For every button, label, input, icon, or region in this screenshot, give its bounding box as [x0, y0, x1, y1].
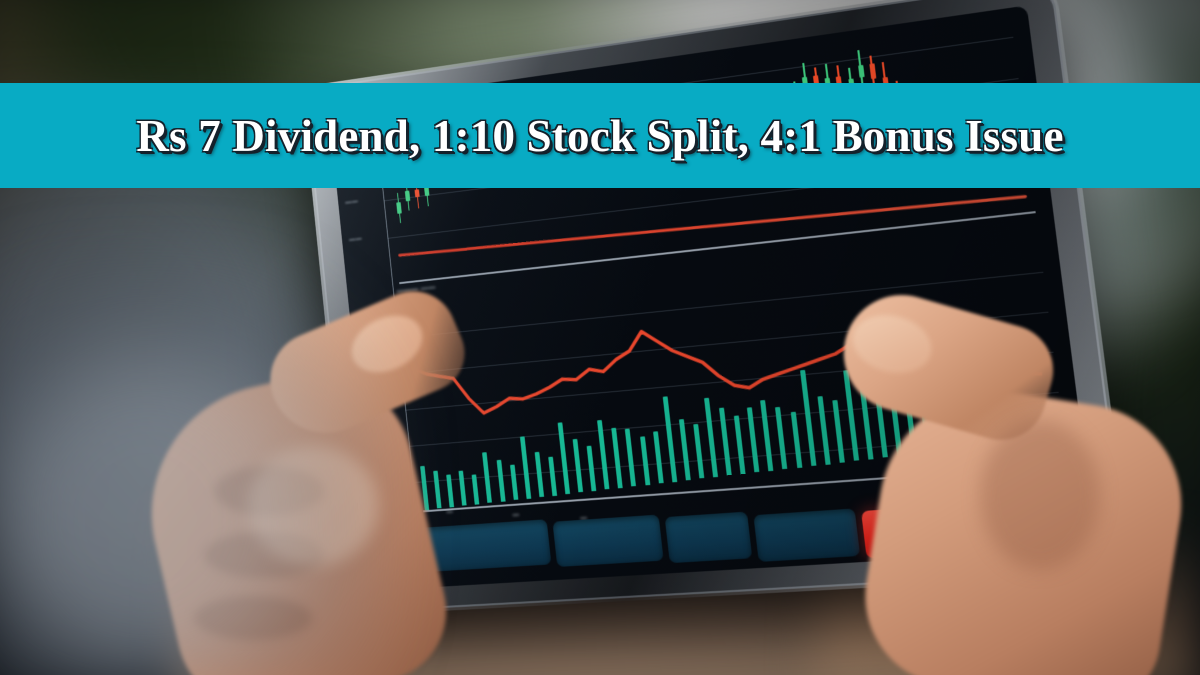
price-axis-label: ——: [345, 198, 358, 206]
candle-body: [858, 65, 865, 77]
candle-body: [869, 63, 876, 79]
headline-text: Rs 7 Dividend, 1:10 Stock Split, 4:1 Bon…: [136, 110, 1063, 162]
toolbar-button-3[interactable]: [665, 512, 753, 564]
candle-body: [415, 189, 420, 197]
price-axis-label: ——: [349, 235, 362, 243]
toolbar-button-2-label: [554, 531, 660, 538]
foreground-blur: [0, 255, 400, 675]
thumb-web-shadow: [980, 420, 1100, 570]
toolbar-button-4[interactable]: [753, 508, 860, 562]
toolbar-button-3-label: [666, 528, 748, 533]
candle-body: [405, 190, 411, 201]
right-hand: [850, 300, 1200, 675]
toolbar-button-2[interactable]: [552, 515, 663, 567]
toolbar-button-4-label: [755, 525, 856, 532]
candle-body: [396, 202, 402, 213]
screenshot-root: —— —— —— —— ——— —— ——: [0, 0, 1200, 675]
headline-banner: Rs 7 Dividend, 1:10 Stock Split, 4:1 Bon…: [0, 83, 1200, 188]
